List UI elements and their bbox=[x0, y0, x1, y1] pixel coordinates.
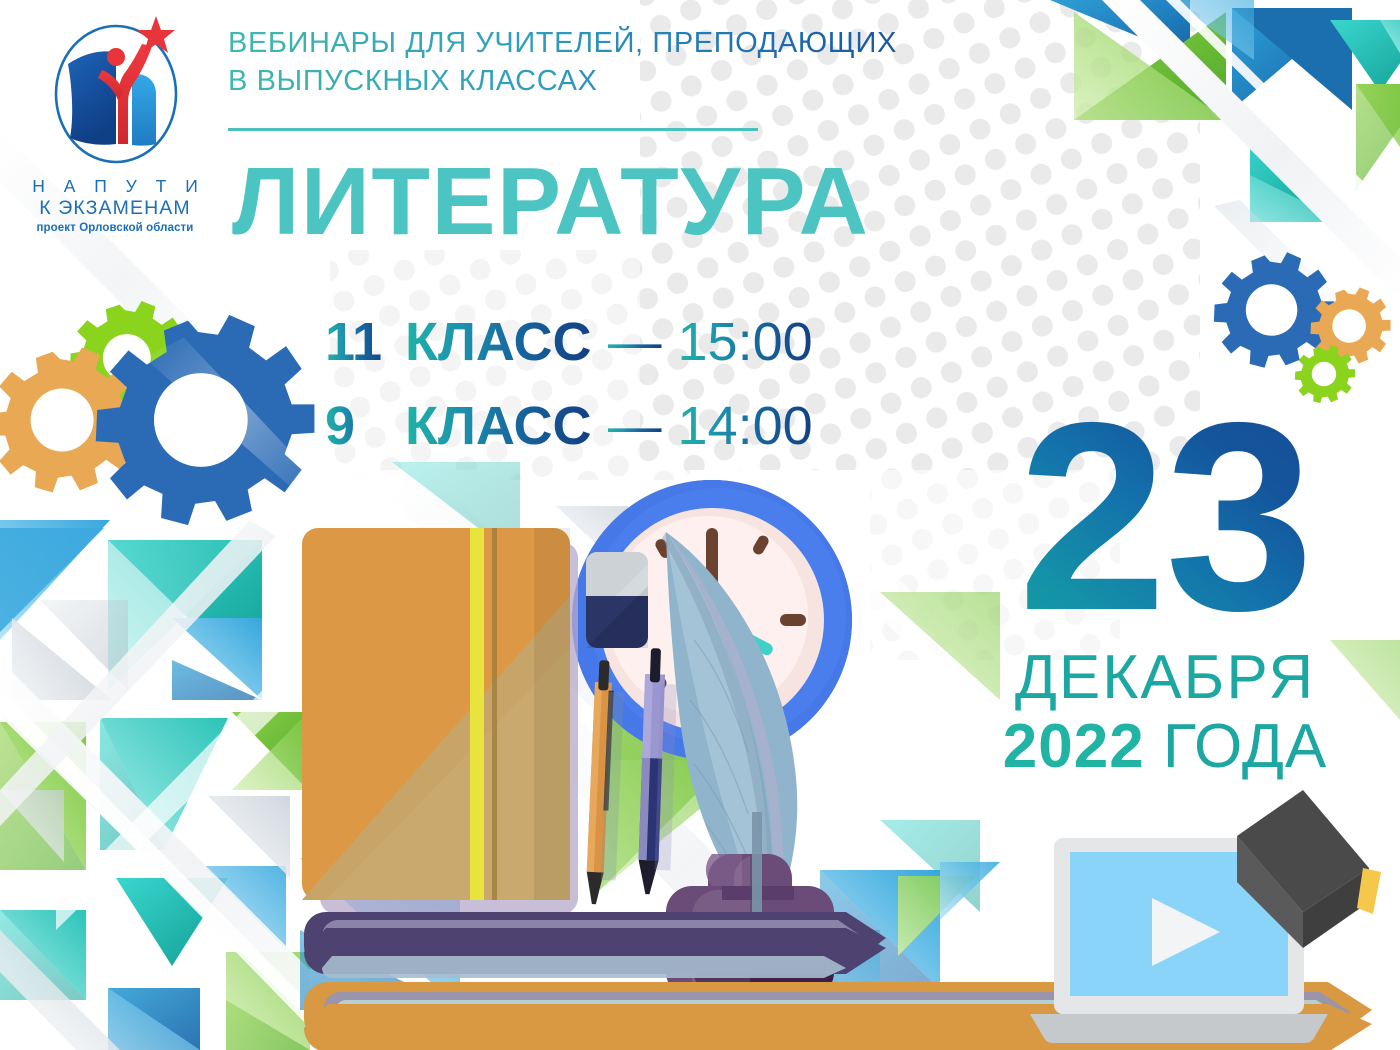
schedule-klass-label: КЛАСС bbox=[405, 310, 592, 374]
logo-line-1: Н А П У Т И bbox=[22, 176, 208, 197]
schedule-time: 15:00 bbox=[678, 310, 813, 374]
logo-book bbox=[68, 51, 116, 144]
poster-canvas: Н А П У Т И К ЭКЗАМЕНАМ проект Орловской… bbox=[0, 0, 1400, 1050]
schedule-grade: 11 bbox=[325, 310, 387, 374]
header-divider-rule bbox=[228, 128, 758, 131]
notebook-elastic-band bbox=[470, 528, 484, 900]
kicker-line-2: В ВЫПУСКНЫХ КЛАССАХ bbox=[228, 62, 1048, 100]
notebook-spine-line bbox=[492, 528, 497, 900]
schedule-dash: — bbox=[608, 310, 662, 374]
purple-book bbox=[304, 912, 886, 978]
schedule-grade: 9 bbox=[325, 394, 387, 458]
date-day-number: 23 bbox=[965, 392, 1365, 640]
schedule-list: 11 КЛАСС — 15:00 9 КЛАСС — 14:00 bbox=[325, 300, 895, 468]
gear-cluster-left bbox=[0, 301, 314, 525]
page-title: ЛИТЕРАТУРА bbox=[232, 150, 869, 254]
schedule-klass-label: КЛАСС bbox=[405, 394, 592, 458]
date-month-label: ДЕКАБРЯ bbox=[965, 644, 1365, 712]
logo-line-3: проект Орловской области bbox=[22, 221, 208, 236]
date-block: 23 ДЕКАБРЯ 2022 ГОДА bbox=[965, 392, 1365, 782]
laptop-base bbox=[1030, 1014, 1328, 1043]
logo-line-2: К ЭКЗАМЕНАМ bbox=[22, 197, 208, 220]
date-year-line: 2022 ГОДА bbox=[965, 712, 1365, 782]
logo-wordmark: Н А П У Т И К ЭКЗАМЕНАМ проект Орловской… bbox=[22, 176, 208, 236]
schedule-row: 9 КЛАСС — 14:00 bbox=[325, 384, 895, 468]
logo-emblem bbox=[44, 8, 188, 174]
schedule-dash: — bbox=[608, 394, 662, 458]
logo-block: Н А П У Т И К ЭКЗАМЕНАМ проект Орловской… bbox=[22, 8, 208, 248]
schedule-row: 11 КЛАСС — 15:00 bbox=[325, 300, 895, 384]
orange-notebook bbox=[302, 528, 578, 914]
date-year-word: ГОДА bbox=[1163, 712, 1327, 781]
eraser bbox=[586, 552, 648, 648]
kicker-line-1: ВЕБИНАРЫ ДЛЯ УЧИТЕЛЕЙ, ПРЕПОДАЮЩИХ bbox=[228, 24, 1048, 62]
logo-accent-shape bbox=[132, 74, 156, 146]
logo-figure-head bbox=[107, 48, 125, 66]
schedule-time: 14:00 bbox=[678, 394, 813, 458]
header-block: ВЕБИНАРЫ ДЛЯ УЧИТЕЛЕЙ, ПРЕПОДАЮЩИХ В ВЫП… bbox=[228, 24, 1048, 100]
date-year-number: 2022 bbox=[1003, 712, 1145, 781]
